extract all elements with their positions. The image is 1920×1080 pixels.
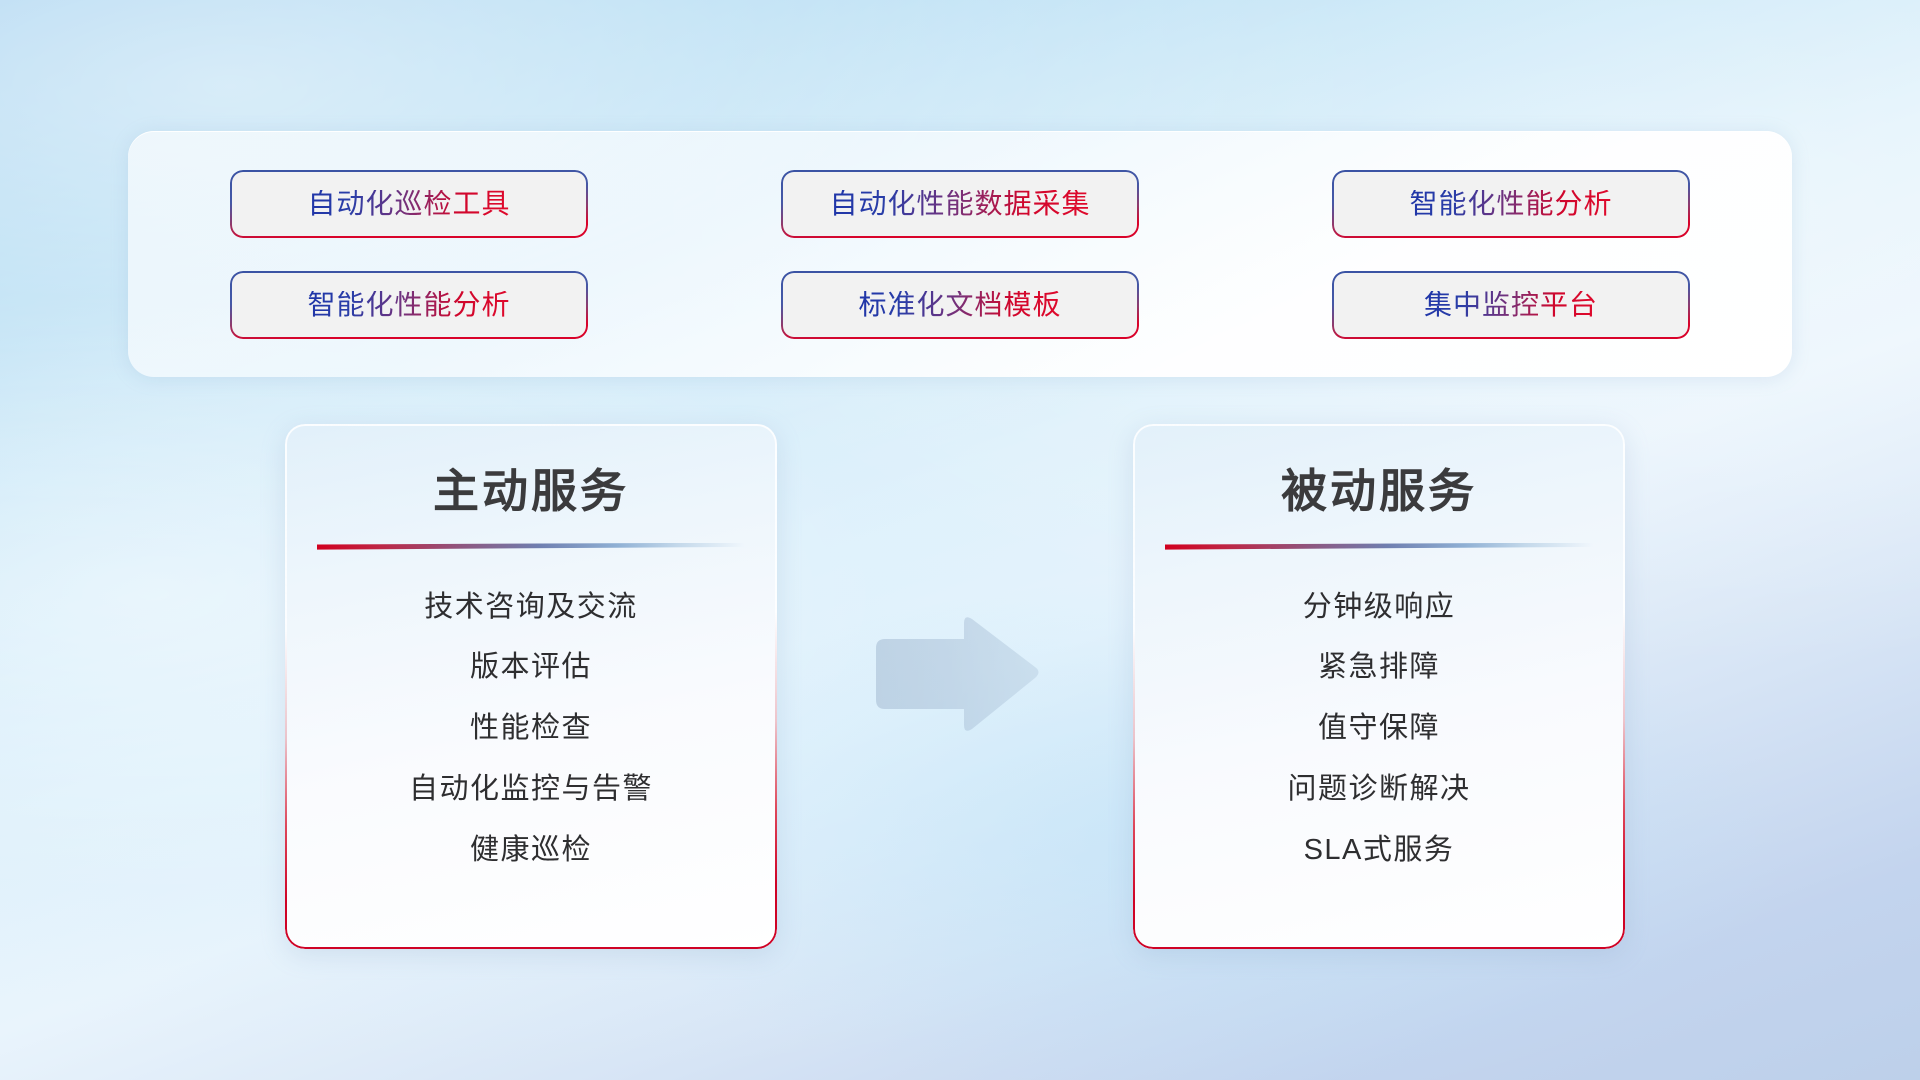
list-item: 性能检查	[470, 711, 592, 746]
list-item: 紧急排障	[1318, 650, 1440, 685]
card-divider-bar	[317, 543, 745, 550]
reactive-service-card: 被动服务 分钟级响应 紧急排障 值守保障 问题诊断解决 SLA式服务	[1133, 424, 1625, 949]
chip-standardized-document-template[interactable]: 标准化文档模板	[781, 271, 1139, 339]
proactive-service-list: 技术咨询及交流 版本评估 性能检查 自动化监控与告警 健康巡检	[285, 590, 777, 868]
chip-label: 标准化文档模板	[858, 291, 1061, 319]
list-item: 健康巡检	[470, 833, 592, 868]
chip-automated-performance-data-collection[interactable]: 自动化性能数据采集	[781, 170, 1139, 238]
list-item: 自动化监控与告警	[409, 772, 653, 807]
right-arrow-icon	[868, 612, 1042, 738]
card-divider	[317, 543, 745, 550]
card-divider-bar	[1165, 543, 1593, 550]
chip-label: 自动化性能数据采集	[829, 190, 1090, 218]
card-title: 被动服务	[1133, 466, 1625, 517]
chip-automated-inspection-tool[interactable]: 自动化巡检工具	[230, 170, 588, 238]
chip-label: 自动化巡检工具	[307, 190, 510, 218]
chip-intelligent-performance-analysis-bottom[interactable]: 智能化性能分析	[230, 271, 588, 339]
list-item: 分钟级响应	[1303, 590, 1456, 625]
proactive-service-card: 主动服务 技术咨询及交流 版本评估 性能检查 自动化监控与告警 健康巡检	[285, 424, 777, 949]
chip-label: 智能化性能分析	[1409, 190, 1612, 218]
chip-intelligent-performance-analysis-top[interactable]: 智能化性能分析	[1332, 170, 1690, 238]
reactive-service-list: 分钟级响应 紧急排障 值守保障 问题诊断解决 SLA式服务	[1133, 590, 1625, 868]
list-item: SLA式服务	[1304, 833, 1455, 868]
capability-chip-grid: 自动化巡检工具 自动化性能数据采集 智能化性能分析 智能化性能分析 标准化文档模…	[230, 170, 1690, 339]
card-divider	[1165, 543, 1593, 550]
list-item: 技术咨询及交流	[424, 590, 638, 625]
chip-label: 智能化性能分析	[307, 291, 510, 319]
chip-centralized-monitoring-platform[interactable]: 集中监控平台	[1332, 271, 1690, 339]
chip-label: 集中监控平台	[1424, 291, 1598, 319]
capability-panel: 自动化巡检工具 自动化性能数据采集 智能化性能分析 智能化性能分析 标准化文档模…	[128, 131, 1792, 377]
list-item: 问题诊断解决	[1287, 772, 1470, 807]
list-item: 版本评估	[470, 650, 592, 685]
list-item: 值守保障	[1318, 711, 1440, 746]
card-title: 主动服务	[285, 466, 777, 517]
